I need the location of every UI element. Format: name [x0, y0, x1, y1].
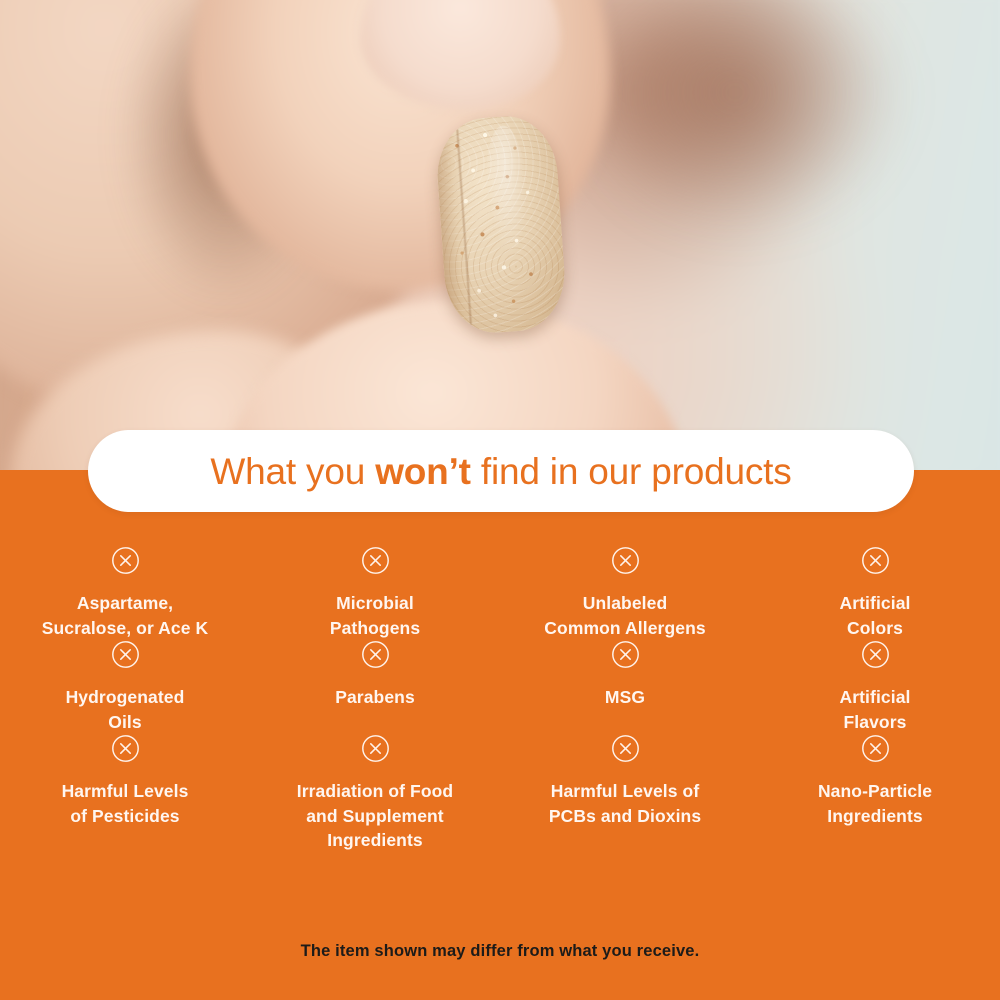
grid-item: Unlabeled Common Allergens	[500, 546, 750, 640]
grid-item: Nano-Particle Ingredients	[750, 734, 1000, 853]
grid-item: Aspartame, Sucralose, or Ace K	[0, 546, 250, 640]
grid-item-label: Parabens	[335, 685, 415, 710]
grid-item: Artificial Flavors	[750, 640, 1000, 734]
title-part-1: What you	[210, 451, 375, 492]
circle-x-icon	[611, 734, 640, 763]
grid-item: Harmful Levels of PCBs and Dioxins	[500, 734, 750, 853]
circle-x-icon	[861, 546, 890, 575]
circle-x-icon	[111, 734, 140, 763]
grid-item-label: Irradiation of Food and Supplement Ingre…	[297, 779, 453, 853]
circle-x-icon	[361, 640, 390, 669]
grid-item: Harmful Levels of Pesticides	[0, 734, 250, 853]
disclaimer-text: The item shown may differ from what you …	[0, 942, 1000, 961]
grid-item-label: Artificial Colors	[839, 591, 910, 640]
grid-item-label: Aspartame, Sucralose, or Ace K	[42, 591, 209, 640]
grid-item: Parabens	[250, 640, 500, 734]
grid-item-label: MSG	[605, 685, 645, 710]
circle-x-icon	[861, 734, 890, 763]
grid-item: Artificial Colors	[750, 546, 1000, 640]
page-title: What you won’t find in our products	[210, 453, 791, 490]
grid-item-label: Unlabeled Common Allergens	[544, 591, 705, 640]
title-banner: What you won’t find in our products	[88, 430, 914, 512]
grid-item: Irradiation of Food and Supplement Ingre…	[250, 734, 500, 853]
grid-item-label: Nano-Particle Ingredients	[818, 779, 932, 828]
title-emphasis: won’t	[375, 451, 471, 492]
circle-x-icon	[111, 640, 140, 669]
circle-x-icon	[111, 546, 140, 575]
grid-item-label: Hydrogenated Oils	[66, 685, 185, 734]
grid-item: Microbial Pathogens	[250, 546, 500, 640]
circle-x-icon	[611, 546, 640, 575]
grid-item: Hydrogenated Oils	[0, 640, 250, 734]
grid-item: MSG	[500, 640, 750, 734]
circle-x-icon	[861, 640, 890, 669]
grid-item-label: Harmful Levels of Pesticides	[62, 779, 189, 828]
grid-item-label: Microbial Pathogens	[330, 591, 420, 640]
title-part-2: find in our products	[471, 451, 792, 492]
grid-item-label: Artificial Flavors	[839, 685, 910, 734]
circle-x-icon	[611, 640, 640, 669]
grid-item-label: Harmful Levels of PCBs and Dioxins	[549, 779, 701, 828]
excluded-ingredients-grid: Aspartame, Sucralose, or Ace K Microbial…	[0, 546, 1000, 853]
circle-x-icon	[361, 734, 390, 763]
product-photo	[0, 0, 1000, 472]
circle-x-icon	[361, 546, 390, 575]
supplement-tablet	[434, 113, 569, 336]
